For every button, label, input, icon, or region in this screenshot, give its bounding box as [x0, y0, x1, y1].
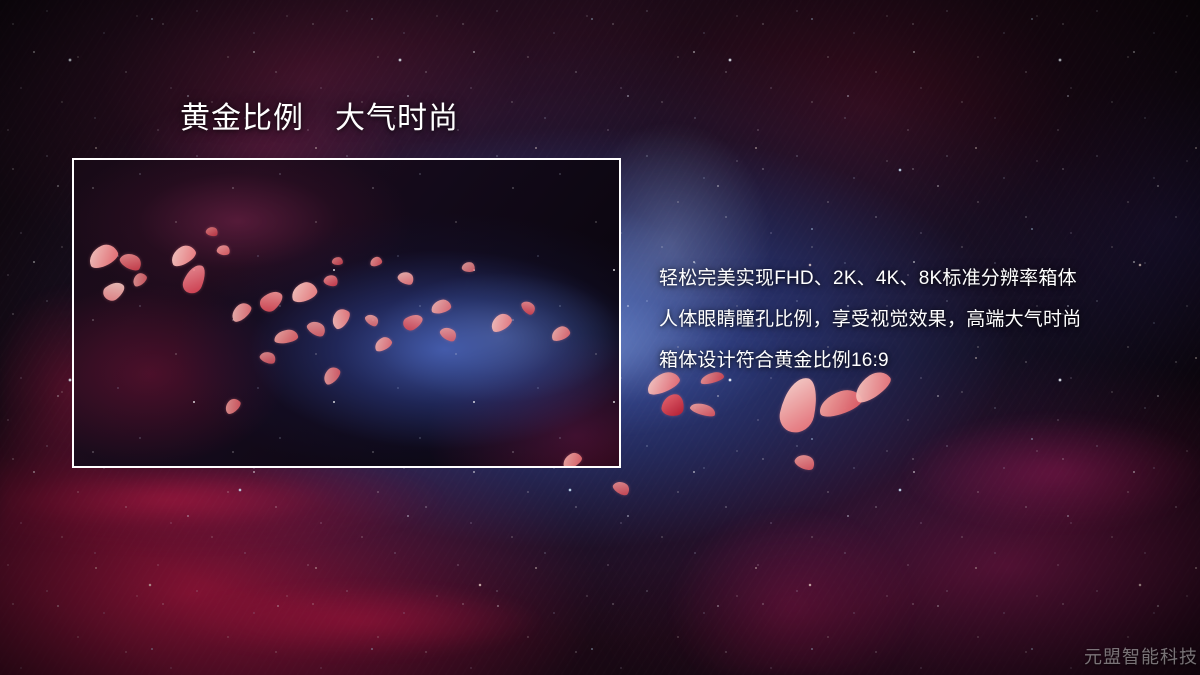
petal-32 [816, 386, 865, 421]
petal-34 [793, 451, 817, 472]
petal-36 [611, 478, 632, 497]
image-panel-starfield [74, 160, 619, 466]
body-line-2: 人体眼睛瞳孔比例，享受视觉效果，高端大气时尚 [659, 299, 1159, 340]
page-title: 黄金比例 大气时尚 [180, 101, 459, 137]
body-text-block: 轻松完美实现FHD、2K、4K、8K标准分辨率箱体 人体眼睛瞳孔比例，享受视觉效… [659, 258, 1159, 381]
petal-30 [689, 400, 717, 418]
image-panel [72, 158, 621, 468]
presentation-slide: 黄金比例 大气时尚 轻松完美实现FHD、2K、4K、8K标准分辨率箱体 人体眼睛… [0, 0, 1200, 675]
body-line-3: 箱体设计符合黄金比例16:9 [659, 340, 1159, 381]
body-line-1: 轻松完美实现FHD、2K、4K、8K标准分辨率箱体 [659, 258, 1159, 299]
petal-31 [777, 374, 822, 436]
petal-28 [661, 393, 686, 418]
watermark: 元盟智能科技 [1084, 643, 1198, 669]
